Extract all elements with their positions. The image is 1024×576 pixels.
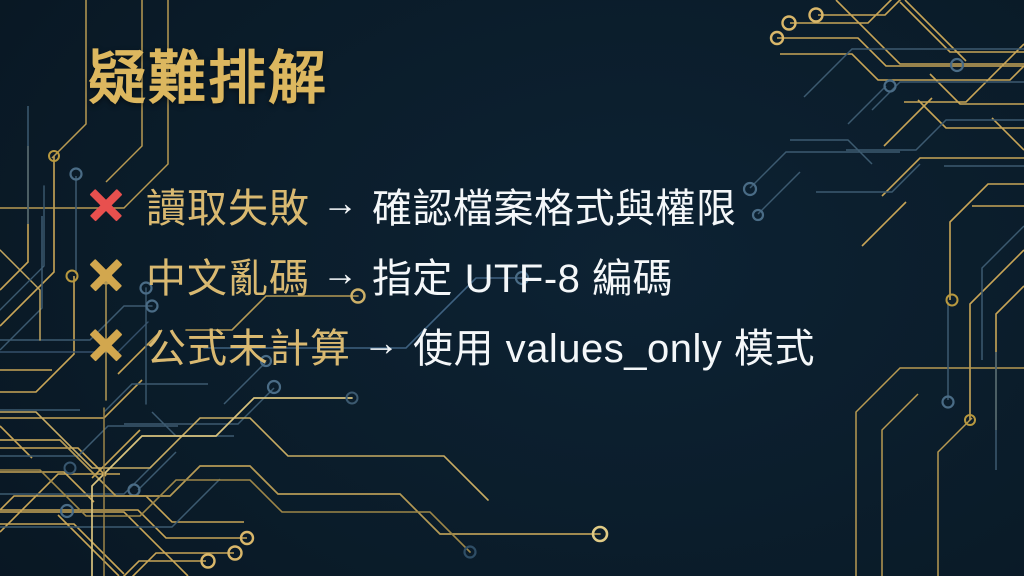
list-item: 公式未計算 → 使用 values_only 模式 — [84, 310, 964, 380]
solution-label: 指定 UTF-8 編碼 — [372, 246, 673, 304]
problem-label: 中文亂碼 — [146, 246, 310, 304]
solution-label: 使用 values_only 模式 — [413, 316, 815, 374]
presentation-slide: 疑難排解 讀取失敗 → 確認檔案格式與權限 中文亂碼 → 指定 UTF-8 編碼 — [0, 0, 1024, 576]
arrow-right-icon: → — [322, 252, 358, 294]
cross-mark-icon — [84, 323, 128, 367]
page-title: 疑難排解 — [88, 48, 328, 111]
arrow-right-icon: → — [322, 182, 358, 224]
arrow-right-icon: → — [363, 322, 399, 364]
solution-label: 確認檔案格式與權限 — [372, 176, 737, 234]
cross-mark-icon — [84, 183, 128, 227]
cross-mark-icon — [84, 253, 128, 297]
list-item: 讀取失敗 → 確認檔案格式與權限 — [84, 170, 964, 240]
troubleshooting-list: 讀取失敗 → 確認檔案格式與權限 中文亂碼 → 指定 UTF-8 編碼 公式未計… — [84, 170, 964, 380]
problem-label: 讀取失敗 — [146, 176, 310, 234]
list-item: 中文亂碼 → 指定 UTF-8 編碼 — [84, 240, 964, 310]
problem-label: 公式未計算 — [146, 316, 351, 374]
